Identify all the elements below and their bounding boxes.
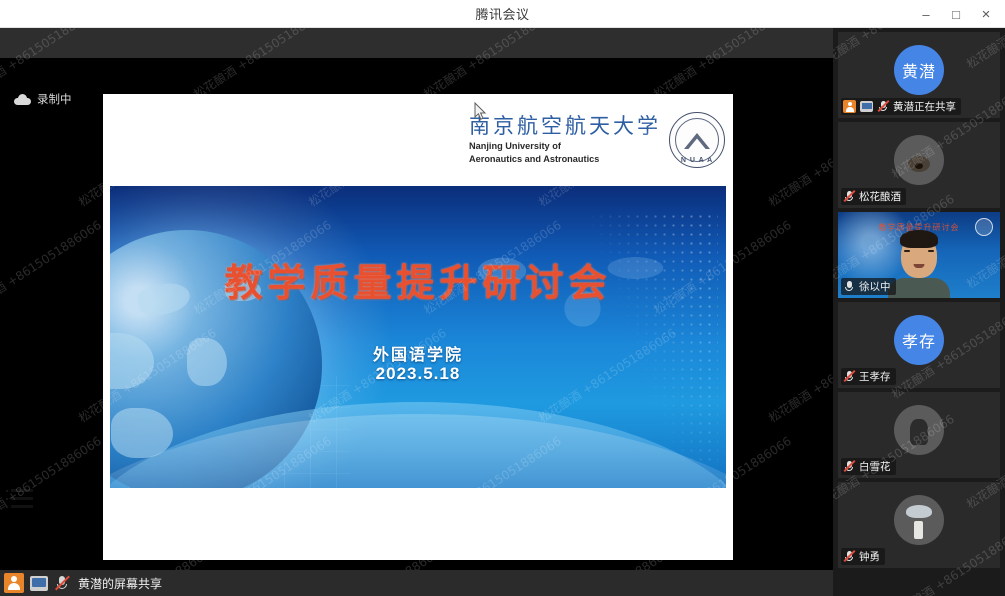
- screen-share-icon: [860, 101, 873, 112]
- slide-body: 教学质量提升研讨会 外国语学院 2023.5.18: [110, 186, 726, 488]
- participant-label: 松花酿酒: [841, 188, 906, 205]
- nuaa-logo-text: N U A A: [670, 157, 724, 164]
- person-icon: [843, 100, 856, 113]
- participant-name: 徐以中: [859, 279, 891, 294]
- avatar: [894, 135, 944, 185]
- participant-name: 黄潜正在共享: [893, 99, 956, 114]
- university-name-cn: 南京航空航天大学: [469, 114, 661, 138]
- maximize-button[interactable]: □: [941, 1, 971, 27]
- participant-label: 黄潜正在共享: [841, 98, 961, 115]
- participant-tile-3[interactable]: 教学质量提升研讨会徐以中: [838, 212, 1000, 298]
- participant-label: 钟勇: [841, 548, 885, 565]
- person-icon: [4, 573, 24, 593]
- participant-tile-2[interactable]: 松花酿酒: [838, 122, 1000, 208]
- university-name-en-line2: Aeronautics and Astronautics: [469, 154, 661, 166]
- minimize-button[interactable]: –: [911, 1, 941, 27]
- watermark-text: 松花酿酒 +8615051886066: [0, 216, 104, 318]
- university-branding: 南京航空航天大学 Nanjing University of Aeronauti…: [469, 112, 725, 168]
- screen-share-icon: [30, 576, 48, 591]
- watermark-text: 松花酿酒 +8615051886066: [765, 108, 833, 210]
- shared-screen-topbar: [0, 28, 833, 58]
- slide-date: 2023.5.18: [110, 364, 726, 384]
- screen-share-bar: 黄潜的屏幕共享: [0, 570, 833, 596]
- participant-tile-4[interactable]: 孝存王孝存: [838, 302, 1000, 388]
- watermark-text: 松花酿酒 +8615051886066: [765, 540, 833, 570]
- avatar: 孝存: [894, 315, 944, 365]
- recording-indicator: 录制中: [14, 91, 72, 107]
- nuaa-logo-icon: N U A A: [669, 112, 725, 168]
- screen-share-indicator: 黄潜的屏幕共享: [0, 573, 162, 593]
- participant-tile-6[interactable]: 钟勇: [838, 482, 1000, 568]
- mic-muted-icon: [843, 190, 855, 203]
- presentation-slide: 南京航空航天大学 Nanjing University of Aeronauti…: [103, 94, 733, 560]
- cloud-icon: [14, 94, 31, 105]
- tencent-meeting-window: 腾讯会议 – □ × 录制中: [0, 0, 1005, 596]
- participant-tile-1[interactable]: 黄潜黄潜正在共享: [838, 32, 1000, 118]
- participant-name: 钟勇: [859, 549, 880, 564]
- mic-muted-icon: [877, 100, 889, 113]
- mic-muted-icon: [843, 550, 855, 563]
- avatar: [894, 495, 944, 545]
- participant-rail[interactable]: 黄潜黄潜正在共享松花酿酒教学质量提升研讨会徐以中孝存王孝存白雪花钟勇松花酿酒 +…: [833, 28, 1005, 596]
- window-title: 腾讯会议: [475, 4, 529, 23]
- watermark-text: 松花酿酒 +8615051886066: [0, 432, 104, 534]
- dot-pattern-decoration: [588, 212, 718, 462]
- window-controls: – □ ×: [911, 0, 1001, 28]
- participant-name: 王孝存: [859, 369, 891, 384]
- slide-title: 教学质量提升研讨会: [110, 252, 726, 307]
- recording-label: 录制中: [37, 91, 72, 107]
- mic-icon: [843, 280, 855, 293]
- watermark-text: 松花酿酒 +8615051886066: [765, 324, 833, 426]
- participant-name: 白雪花: [859, 459, 891, 474]
- slide-footer: [103, 488, 733, 560]
- participant-face: [896, 262, 942, 298]
- participant-label: 王孝存: [841, 368, 896, 385]
- shared-screen-stage[interactable]: 录制中 南京航空航天大学 Nanjing University of Aeron…: [0, 28, 833, 570]
- participant-name: 松花酿酒: [859, 189, 901, 204]
- nuaa-logo-icon: [975, 218, 993, 236]
- window-titlebar: 腾讯会议 – □ ×: [0, 0, 1005, 28]
- participant-label: 徐以中: [841, 278, 896, 295]
- mic-muted-icon: [843, 370, 855, 383]
- university-name-en-line1: Nanjing University of: [469, 141, 661, 153]
- screen-share-label: 黄潜的屏幕共享: [78, 575, 162, 592]
- slide-subtitle: 外国语学院: [110, 341, 726, 365]
- participant-label: 白雪花: [841, 458, 896, 475]
- close-button[interactable]: ×: [971, 1, 1001, 27]
- mouse-cursor: [474, 102, 487, 126]
- ghost-list-glyph: [6, 489, 40, 513]
- participant-tile-5[interactable]: 白雪花: [838, 392, 1000, 478]
- mic-muted-icon: [843, 460, 855, 473]
- mic-muted-icon: [54, 575, 70, 592]
- slide-header: 南京航空航天大学 Nanjing University of Aeronauti…: [103, 94, 733, 186]
- avatar: 黄潜: [894, 45, 944, 95]
- shared-screen-content: 录制中 南京航空航天大学 Nanjing University of Aeron…: [0, 28, 833, 570]
- university-name-block: 南京航空航天大学 Nanjing University of Aeronauti…: [469, 114, 661, 165]
- avatar: [894, 405, 944, 455]
